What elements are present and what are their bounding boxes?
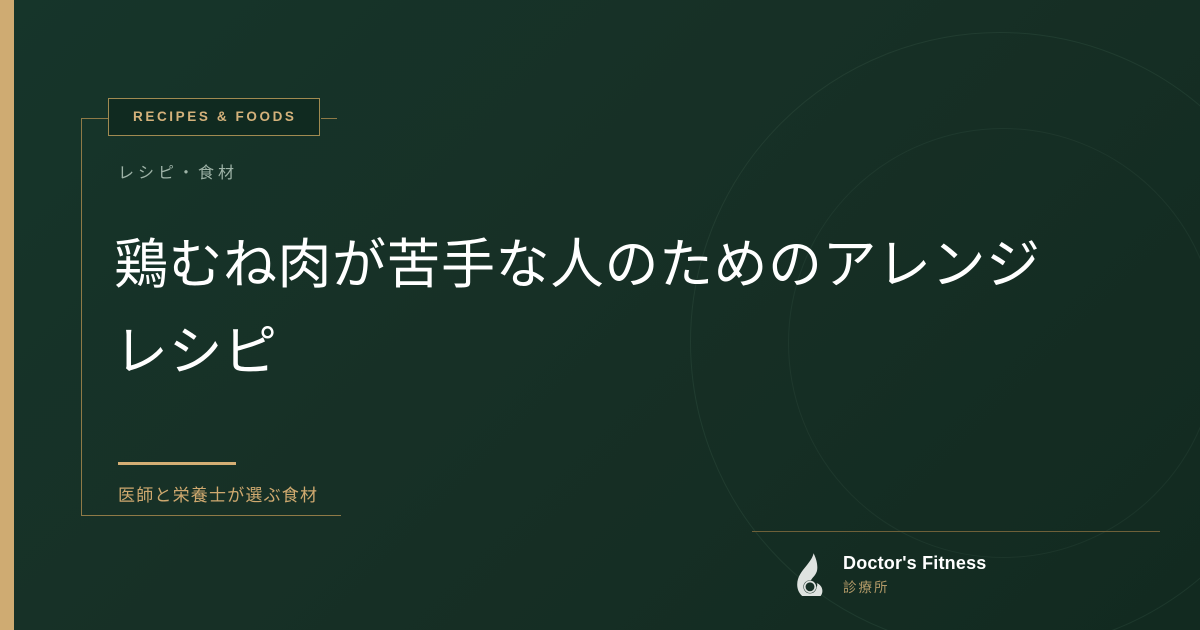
og-card: RECIPES & FOODS レシピ・食材 鶏むね肉が苦手な人のためのアレンジ… <box>0 0 1200 630</box>
gold-divider-rule <box>118 462 236 465</box>
category-badge: RECIPES & FOODS <box>108 98 320 136</box>
brand-name: Doctor's Fitness <box>843 554 987 572</box>
brand-divider <box>752 531 1160 532</box>
bracket-top-stub <box>81 118 108 119</box>
brand-lockup: Doctor's Fitness 診療所 <box>752 531 1160 596</box>
flame-droplet-icon <box>792 552 828 596</box>
gold-edge-bar <box>0 0 14 630</box>
tagline: 医師と栄養士が選ぶ食材 <box>118 487 318 504</box>
brand-text: Doctor's Fitness 診療所 <box>843 554 987 595</box>
brand-subtitle: 診療所 <box>843 581 987 595</box>
category-label-jp: レシピ・食材 <box>118 166 238 182</box>
page-title: 鶏むね肉が苦手な人のためのアレンジレシピ <box>114 222 1094 397</box>
brand-row: Doctor's Fitness 診療所 <box>752 552 1160 596</box>
